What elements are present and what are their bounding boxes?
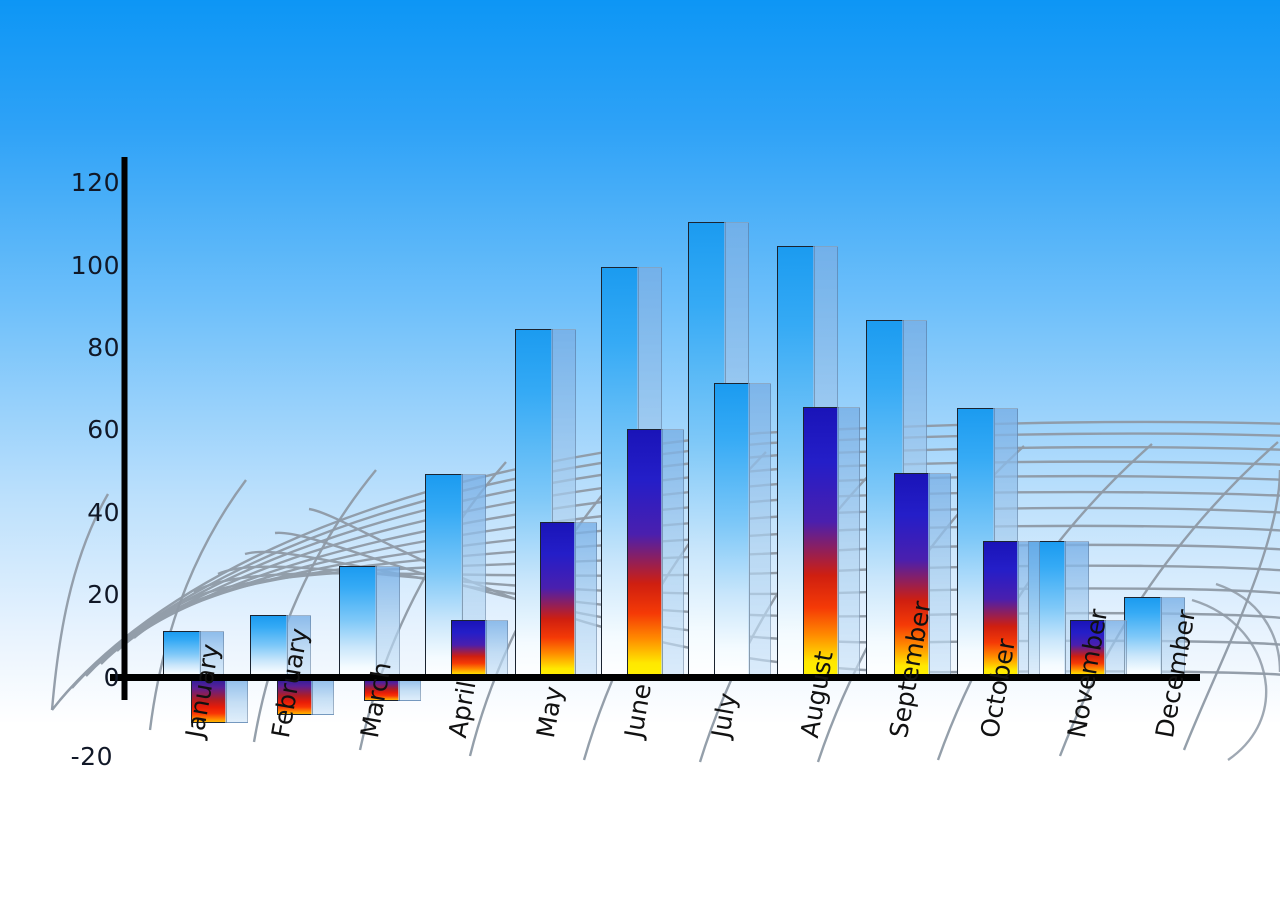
y-tick-80: 80 [50, 333, 120, 362]
y-tick-60: 60 [50, 415, 120, 444]
bar-side [485, 620, 508, 679]
bar-front [1124, 597, 1162, 679]
bar-may-series2 [540, 522, 574, 677]
bar-front [451, 620, 487, 679]
bar-april-series2 [451, 620, 485, 677]
bar-side [748, 383, 771, 679]
bar-december-series1 [1124, 597, 1160, 677]
bar-side [311, 678, 334, 715]
bar-august-series2 [803, 407, 837, 677]
x-label-july: July [706, 691, 742, 740]
y-tick-120: 120 [50, 168, 120, 197]
bar-front [803, 407, 839, 679]
bar-side [398, 678, 421, 701]
y-tick-0: 0 [50, 663, 120, 692]
bar-july-series2 [714, 383, 748, 677]
x-label-april: April [443, 679, 481, 740]
bar-side [837, 407, 860, 679]
y-tick-100: 100 [50, 251, 120, 280]
bar-front [714, 383, 750, 679]
bar-side [928, 473, 951, 679]
y-tick-40: 40 [50, 498, 120, 527]
bar-side [225, 678, 248, 723]
bar-side [1017, 541, 1040, 679]
bar-side [661, 429, 684, 679]
x-label-june: June [619, 681, 657, 740]
bar-front [540, 522, 576, 679]
y-tick-20: 20 [50, 580, 120, 609]
bar-front [627, 429, 663, 679]
chart-root: 120 100 80 60 40 20 0 -20 January Februa… [0, 0, 1280, 905]
bar-june-series2 [627, 429, 661, 677]
y-tick-neg20: -20 [43, 742, 113, 771]
bar-side [574, 522, 597, 679]
x-label-may: May [531, 684, 569, 740]
